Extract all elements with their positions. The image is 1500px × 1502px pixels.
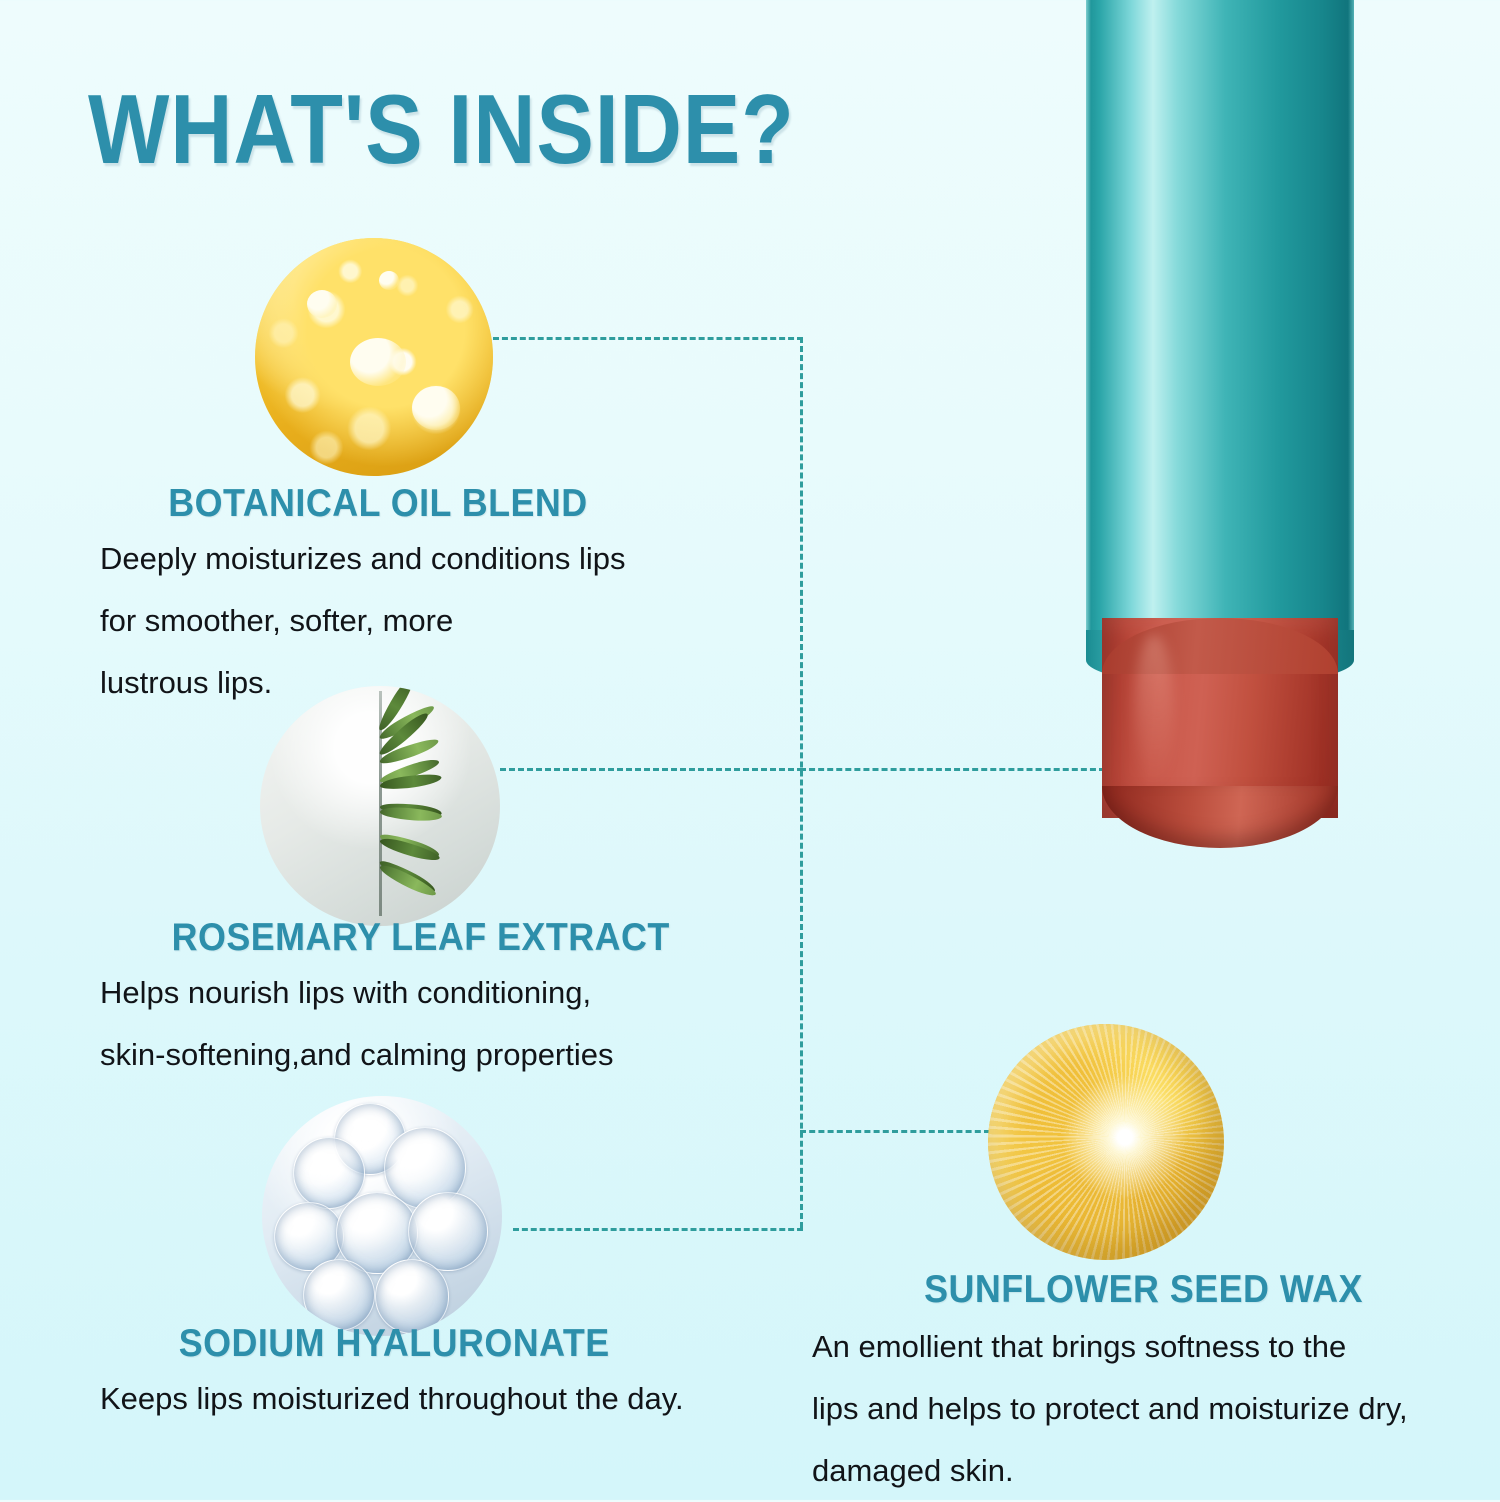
body-line: skin-softening,and calming properties <box>100 1024 614 1086</box>
ingredient-heading-sodium-hyaluronate: SODIUM HYALURONATE <box>179 1322 610 1366</box>
ingredient-heading-sunflower-seed-wax: SUNFLOWER SEED WAX <box>924 1268 1363 1312</box>
body-line: Keeps lips moisturized throughout the da… <box>100 1368 684 1430</box>
wax-sphere-shading <box>988 1024 1224 1260</box>
lipstick-tube <box>1086 0 1354 658</box>
connector-line-rosemary <box>500 768 803 771</box>
ingredient-heading-rosemary-leaf-extract: ROSEMARY LEAF EXTRACT <box>172 916 670 960</box>
lipstick-product-image <box>1086 0 1354 850</box>
ingredient-body-sunflower-seed-wax: An emollient that brings softness to the… <box>812 1316 1408 1502</box>
body-line: An emollient that brings softness to the <box>812 1316 1408 1378</box>
ingredient-heading-botanical-oil-blend: BOTANICAL OIL BLEND <box>168 482 587 526</box>
body-line: Deeply moisturizes and conditions lips <box>100 528 626 590</box>
water-bubbles-circle <box>262 1096 502 1336</box>
lipstick-bullet <box>1102 618 1338 818</box>
oil-droplet-tiny <box>379 271 399 290</box>
bullet-gloss-highlight <box>1135 634 1173 786</box>
ingredient-body-sodium-hyaluronate: Keeps lips moisturized throughout the da… <box>100 1368 684 1430</box>
body-line: for smoother, softer, more <box>100 590 626 652</box>
oil-droplet-large <box>350 338 406 386</box>
connector-line-vertical-bus <box>800 337 803 1228</box>
page-title: WHAT'S INSIDE? <box>88 78 795 181</box>
connector-line-sunflower <box>800 1130 990 1133</box>
ingredient-body-botanical-oil-blend: Deeply moisturizes and conditions lips f… <box>100 528 626 714</box>
connector-line-oil <box>493 337 803 340</box>
golden-oil-droplets-circle <box>255 238 493 476</box>
rosemary-sprig-circle <box>260 686 500 926</box>
bullet-bottom-edge <box>1102 786 1338 848</box>
connector-line-hyaluronate <box>513 1228 803 1231</box>
tube-shadow-right <box>1348 0 1354 658</box>
oil-droplet-medium <box>412 386 460 430</box>
body-line: lips and helps to protect and moisturize… <box>812 1378 1408 1440</box>
water-bubble <box>303 1259 375 1331</box>
golden-wax-sphere-circle <box>988 1024 1224 1260</box>
body-line: Helps nourish lips with conditioning, <box>100 962 614 1024</box>
connector-line-to-product <box>800 768 1105 771</box>
ingredient-body-rosemary-leaf-extract: Helps nourish lips with conditioning, sk… <box>100 962 614 1086</box>
body-line: damaged skin. <box>812 1440 1408 1502</box>
tube-highlight-left <box>1086 0 1091 658</box>
